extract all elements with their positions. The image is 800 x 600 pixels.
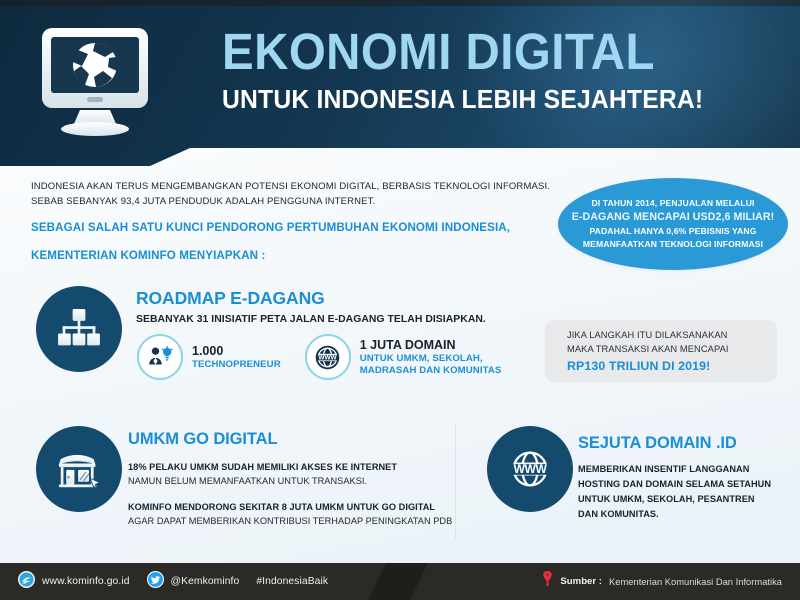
footer-links: www.kominfo.go.id @Kemkominfo #Indonesia… bbox=[18, 563, 328, 600]
callout-line-4: MEMANFAATKAN TEKNOLOGI INFORMASI bbox=[572, 238, 775, 251]
sejuta-line-4: DAN KOMUNITAS. bbox=[578, 507, 793, 522]
section-divider bbox=[455, 423, 456, 540]
intro-highlight-1: SEBAGAI SALAH SATU KUNCI PENDORONG PERTU… bbox=[31, 220, 551, 236]
roadmap-subtitle: SEBANYAK 31 INISIATIF PETA JALAN E-DAGAN… bbox=[136, 314, 516, 325]
monitor-globe-icon bbox=[40, 26, 150, 142]
kominfo-logo-icon bbox=[18, 571, 35, 593]
technopreneur-idea-icon bbox=[137, 334, 183, 380]
stat-domain-label-2: MADRASAH DAN KOMUNITAS bbox=[360, 365, 502, 377]
footer-hashtag-text: #IndonesiaBaik bbox=[256, 576, 328, 587]
stat-domain-label-1: UNTUK UMKM, SEKOLAH, bbox=[360, 353, 502, 365]
gray-box-highlight: RP130 TRILIUN DI 2019! bbox=[567, 359, 777, 373]
footer-bar: www.kominfo.go.id @Kemkominfo #Indonesia… bbox=[0, 563, 800, 600]
umkm-text-block: UMKM GO DIGITAL 18% PELAKU UMKM SUDAH ME… bbox=[128, 430, 448, 528]
www-globe-icon: WWW bbox=[305, 334, 351, 380]
roadmap-title: ROADMAP E-DAGANG bbox=[136, 288, 516, 309]
statistic-callout-bubble: DI TAHUN 2014, PENJUALAN MELALUI E-DAGAN… bbox=[558, 178, 788, 270]
intro-line-1: INDONESIA AKAN TERUS MENGEMBANGKAN POTEN… bbox=[31, 180, 551, 195]
header-title-block: EKONOMI DIGITAL UNTUK INDONESIA LEBIH SE… bbox=[222, 26, 762, 115]
www-globe-icon: WWW bbox=[487, 426, 573, 512]
intro-line-2: SEBAB SEBANYAK 93,4 JUTA PENDUDUK ADALAH… bbox=[31, 195, 551, 210]
intro-highlight-2: KEMENTERIAN KOMINFO MENYIAPKAN : bbox=[31, 248, 551, 264]
sejuta-title: SEJUTA DOMAIN .ID bbox=[578, 434, 793, 453]
footer-twitter[interactable]: @Kemkominfo bbox=[147, 571, 240, 593]
callout-line-2: E-DAGANG MENCAPAI USD2,6 MILIAR! bbox=[572, 210, 775, 226]
stat-technopreneur-number: 1.000 bbox=[192, 344, 281, 359]
footer-website[interactable]: www.kominfo.go.id bbox=[18, 571, 130, 593]
twitter-bird-icon bbox=[147, 571, 164, 593]
sejuta-line-3: UNTUK UMKM, SEKOLAH, PESANTREN bbox=[578, 492, 793, 507]
pin-icon bbox=[542, 571, 553, 592]
gray-box-line-1: JIKA LANGKAH ITU DILAKSANAKAN bbox=[567, 329, 777, 343]
svg-text:WWW: WWW bbox=[319, 354, 338, 361]
footer-hashtag[interactable]: #IndonesiaBaik bbox=[256, 576, 328, 587]
infographic-poster: EKONOMI DIGITAL UNTUK INDONESIA LEBIH SE… bbox=[0, 0, 800, 600]
callout-line-3: PADAHAL HANYA 0,6% PEBISNIS YANG bbox=[572, 225, 775, 238]
footer-source-value: Kementerian Komunikasi Dan Informatika bbox=[609, 576, 782, 587]
umkm-p1-line-1: 18% PELAKU UMKM SUDAH MEMILIKI AKSES KE … bbox=[128, 460, 448, 474]
stat-domain: WWW 1 JUTA DOMAIN UNTUK UMKM, SEKOLAH, M… bbox=[305, 334, 502, 380]
sejuta-text-block: SEJUTA DOMAIN .ID MEMBERIKAN INSENTIF LA… bbox=[578, 434, 793, 522]
sejuta-paragraph: MEMBERIKAN INSENTIF LANGGANAN HOSTING DA… bbox=[578, 462, 793, 522]
footer-twitter-text: @Kemkominfo bbox=[171, 576, 240, 587]
roadmap-text-block: ROADMAP E-DAGANG SEBANYAK 31 INISIATIF P… bbox=[136, 288, 516, 325]
sejuta-line-2: HOSTING DAN DOMAIN SELAMA SETAHUN bbox=[578, 477, 793, 492]
stat-technopreneur-label: TECHNOPRENEUR bbox=[192, 359, 281, 371]
umkm-paragraph-2: KOMINFO MENDORONG SEKITAR 8 JUTA UMKM UN… bbox=[128, 500, 448, 529]
org-chart-icon bbox=[36, 286, 122, 372]
projection-gray-box: JIKA LANGKAH ITU DILAKSANAKAN MAKA TRANS… bbox=[545, 320, 777, 382]
gray-box-line-2: MAKA TRANSAKSI AKAN MENCAPAI bbox=[567, 343, 777, 357]
stat-domain-number: 1 JUTA DOMAIN bbox=[360, 338, 502, 353]
umkm-title: UMKM GO DIGITAL bbox=[128, 430, 448, 449]
umkm-icon-badge bbox=[36, 426, 122, 512]
footer-source-label: Sumber : bbox=[560, 576, 602, 587]
umkm-p2-line-1: KOMINFO MENDORONG SEKITAR 8 JUTA UMKM UN… bbox=[128, 500, 448, 514]
footer-source: Sumber : Kementerian Komunikasi Dan Info… bbox=[542, 563, 782, 600]
umkm-p2-line-2: AGAR DAPAT MEMBERIKAN KONTRIBUSI TERHADA… bbox=[128, 514, 448, 528]
stat-technopreneur: 1.000 TECHNOPRENEUR bbox=[137, 334, 281, 380]
umkm-p1-line-2: NAMUN BELUM MEMANFAATKAN UNTUK TRANSAKSI… bbox=[128, 474, 448, 488]
sejuta-icon-badge: WWW bbox=[487, 426, 573, 512]
page-title: EKONOMI DIGITAL bbox=[222, 26, 724, 78]
roadmap-stats-row: 1.000 TECHNOPRENEUR WWW bbox=[137, 334, 501, 380]
footer-website-text: www.kominfo.go.id bbox=[42, 576, 130, 587]
svg-text:WWW: WWW bbox=[514, 462, 548, 476]
footer-accent-shape bbox=[368, 563, 428, 600]
page-subtitle: UNTUK INDONESIA LEBIH SEJAHTERA! bbox=[222, 84, 735, 115]
intro-text-block: INDONESIA AKAN TERUS MENGEMBANGKAN POTEN… bbox=[31, 180, 551, 264]
callout-line-1: DI TAHUN 2014, PENJUALAN MELALUI bbox=[572, 197, 775, 210]
umkm-paragraph-1: 18% PELAKU UMKM SUDAH MEMILIKI AKSES KE … bbox=[128, 460, 448, 489]
storefront-cursor-icon bbox=[36, 426, 122, 512]
sejuta-line-1: MEMBERIKAN INSENTIF LANGGANAN bbox=[578, 462, 793, 477]
